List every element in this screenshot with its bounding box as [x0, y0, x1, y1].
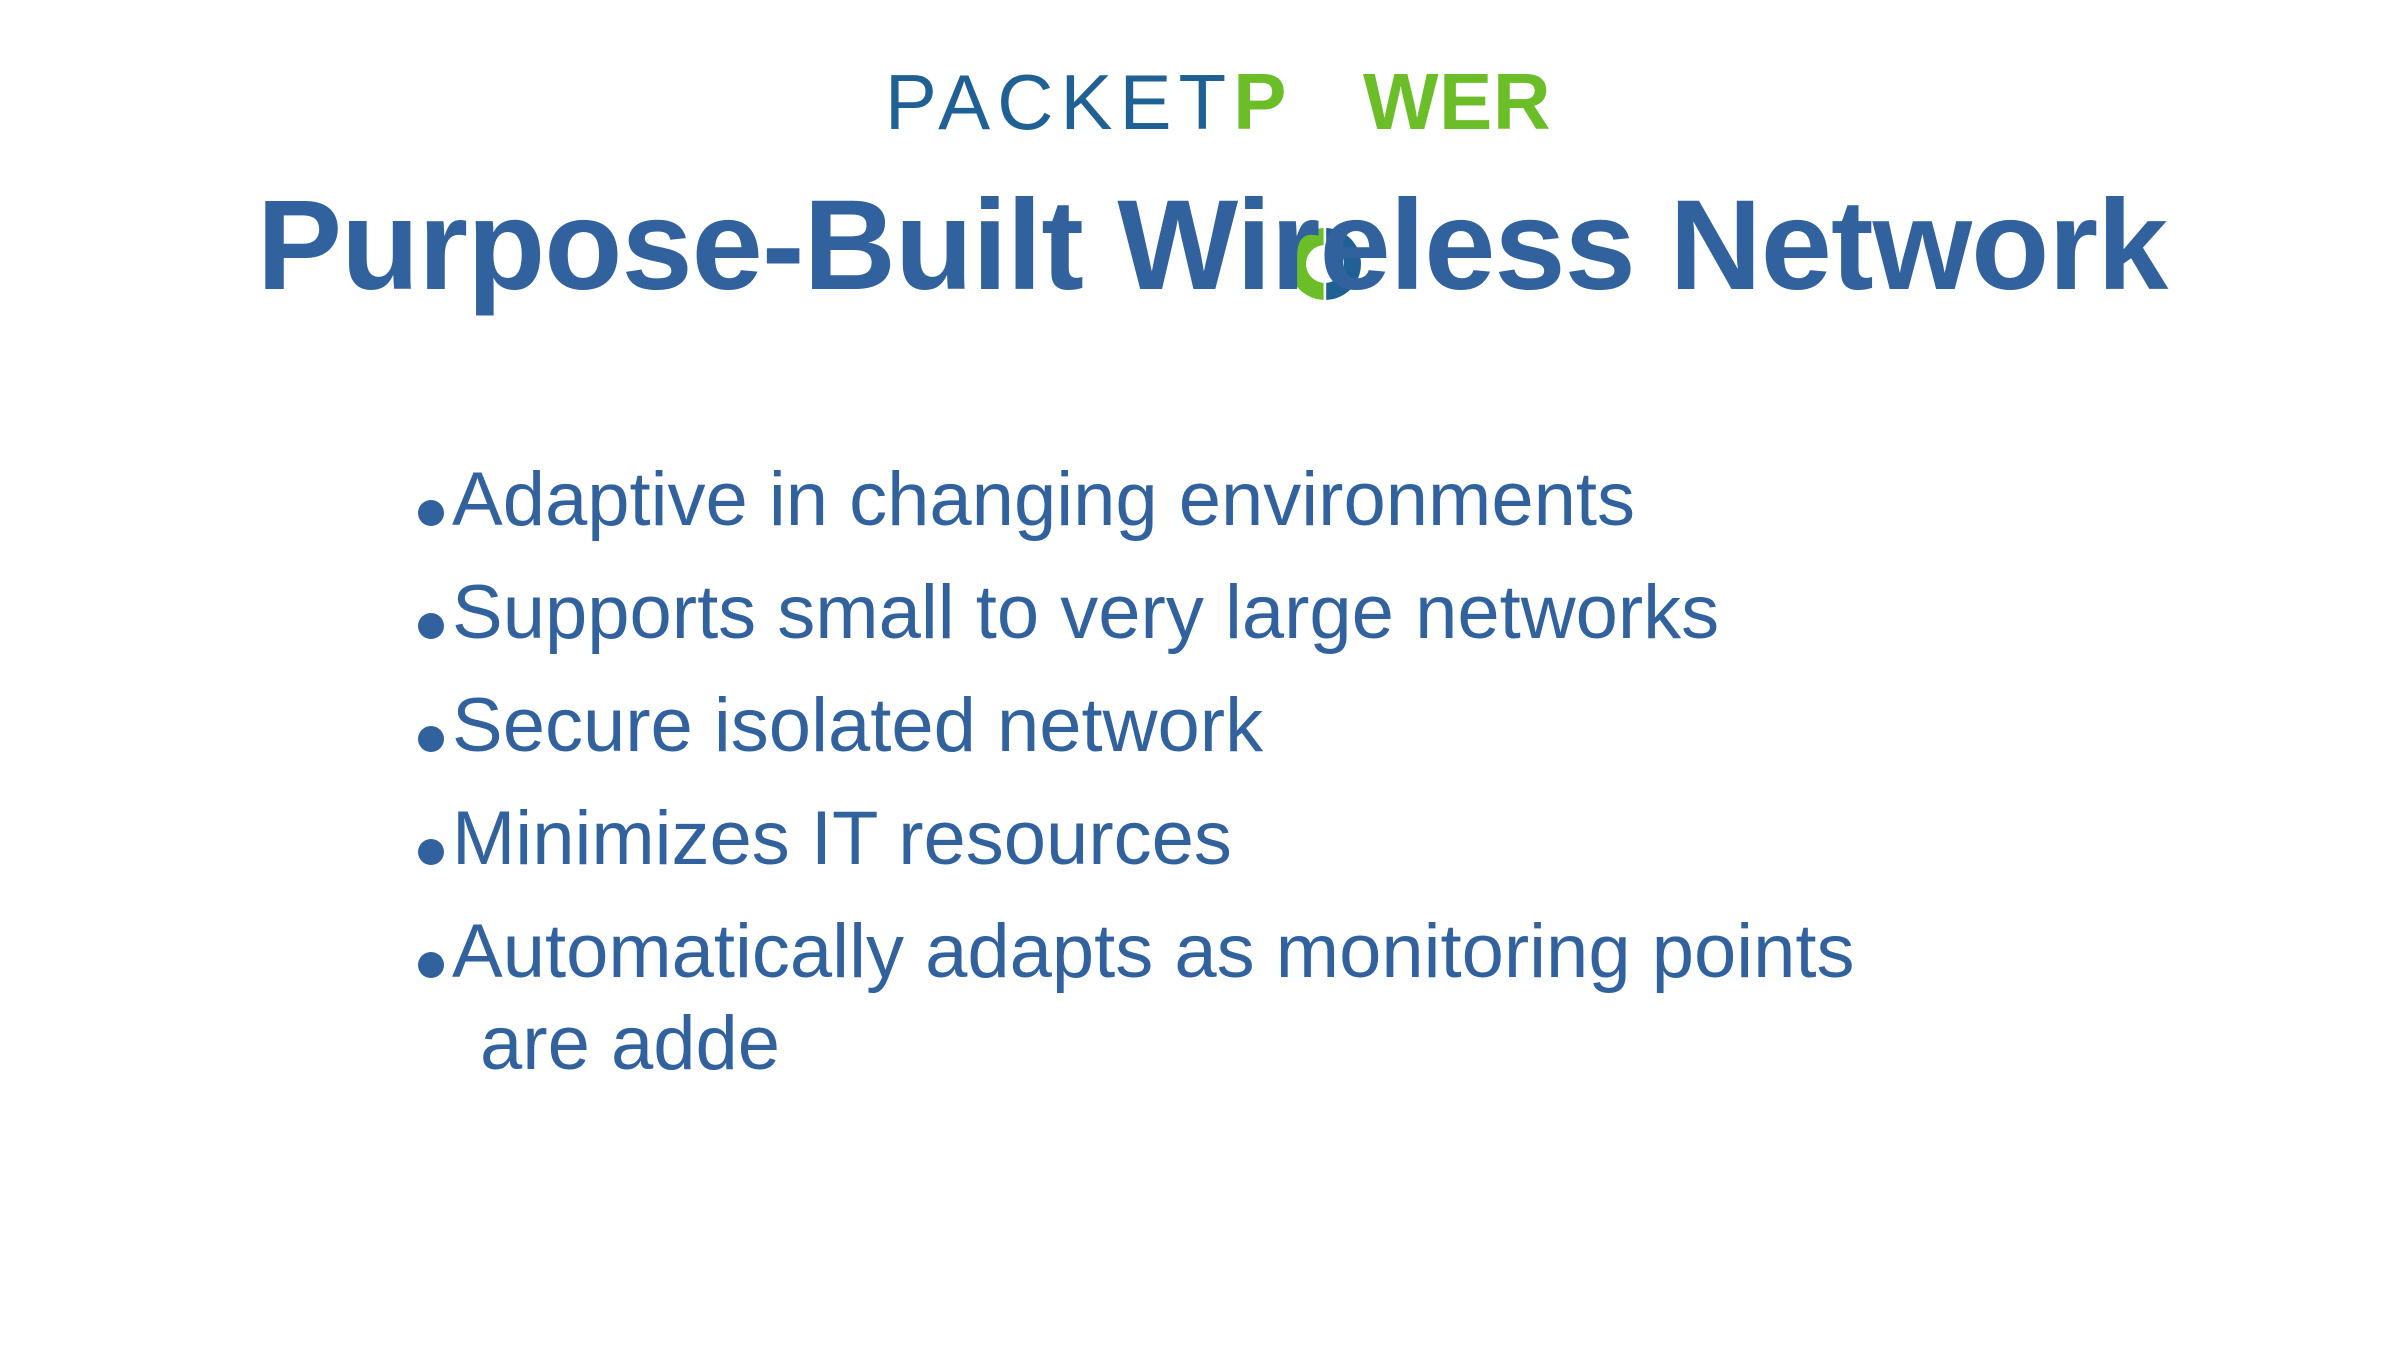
logo-wordmark-power: P WER [1233, 62, 1551, 142]
bullet-list: Adaptive in changing environments Suppor… [418, 462, 1978, 1119]
bullet-dot-icon [418, 500, 444, 526]
list-item: Supports small to very large networks [418, 575, 1978, 651]
list-item-label-line2: are adde [452, 1006, 1978, 1082]
bullet-dot-icon [418, 613, 444, 639]
bullet-dot-icon [418, 952, 444, 978]
logo-power-wer: WER [1363, 62, 1551, 142]
bullet-dot-icon [418, 726, 444, 752]
list-item-label: Adaptive in changing environments [452, 462, 1978, 538]
slide-canvas: PACKET P WER Purpose-Buil [0, 0, 2400, 1350]
list-item-label: Supports small to very large networks [452, 575, 1978, 651]
logo-container: PACKET P WER [0, 62, 2400, 142]
list-item: Minimizes IT resources [418, 801, 1978, 877]
list-item: Adaptive in changing environments [418, 462, 1978, 538]
power-circle-o-icon [1289, 68, 1361, 140]
list-item: Automatically adapts as monitoring point… [418, 914, 1978, 1082]
list-item-label: Automatically adapts as monitoring point… [452, 914, 1978, 1082]
bullet-dot-icon [418, 839, 444, 865]
list-item-label-line1: Automatically adapts as monitoring point… [452, 909, 1855, 994]
list-item-label: Secure isolated network [452, 688, 1978, 764]
page-title: Purpose-Built Wireless Network [12, 178, 2400, 314]
list-item-label: Minimizes IT resources [452, 801, 1978, 877]
packet-power-logo: PACKET P WER [885, 62, 1551, 142]
list-item: Secure isolated network [418, 688, 1978, 764]
logo-wordmark-packet: PACKET [885, 63, 1233, 141]
logo-power-p: P [1233, 62, 1287, 142]
